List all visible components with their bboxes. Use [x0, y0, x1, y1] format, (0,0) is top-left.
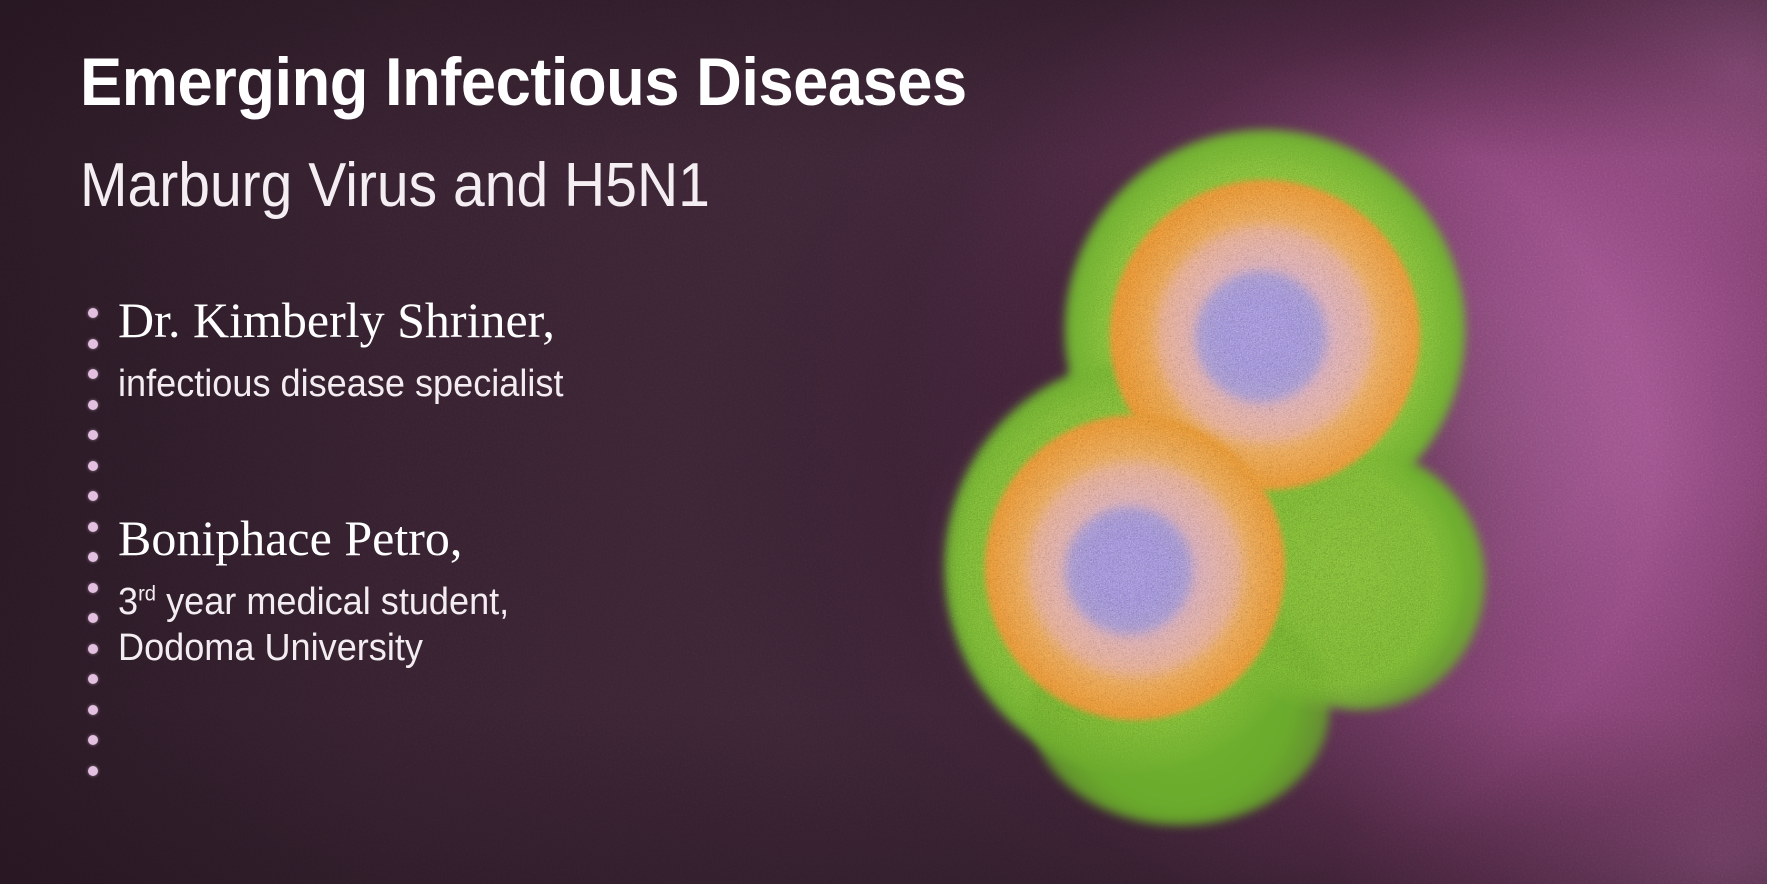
speaker-role-line-1: infectious disease specialist — [118, 363, 563, 405]
rail-dot — [88, 339, 98, 349]
speaker-role-ordinal: 3 — [118, 581, 138, 623]
page-title: Emerging Infectious Diseases — [80, 48, 967, 116]
speaker-role-line-1: year medical student, — [156, 581, 509, 623]
virus-speckle-texture — [905, 95, 1505, 835]
page-subtitle: Marburg Virus and H5N1 — [80, 155, 710, 217]
rail-dot — [88, 400, 98, 410]
rail-dot — [88, 613, 98, 623]
rail-dot — [88, 369, 98, 379]
speaker-block-1: Dr. Kimberly Shriner, infectious disease… — [118, 294, 587, 407]
speaker-block-2: Boniphace Petro, 3rd year medical studen… — [118, 512, 530, 671]
rail-dot — [88, 491, 98, 501]
rail-dot — [88, 674, 98, 684]
rail-dot — [88, 705, 98, 715]
rail-dot — [88, 644, 98, 654]
speaker-role: infectious disease specialist — [118, 361, 563, 407]
rail-dot — [88, 430, 98, 440]
speaker-name: Boniphace Petro, — [118, 512, 530, 565]
slide-text-column: Emerging Infectious Diseases Marburg Vir… — [0, 0, 940, 884]
rail-dot — [88, 735, 98, 745]
dotted-divider-rail — [88, 308, 99, 778]
rail-dot — [88, 461, 98, 471]
rail-dot — [88, 522, 98, 532]
presentation-title-slide: Emerging Infectious Diseases Marburg Vir… — [0, 0, 1767, 884]
rail-dot — [88, 583, 98, 593]
speaker-name: Dr. Kimberly Shriner, — [118, 294, 587, 347]
rail-dot — [88, 308, 98, 318]
rail-dot — [88, 552, 98, 562]
rail-dot — [88, 766, 98, 776]
speaker-role-ordinal-suffix: rd — [138, 581, 156, 605]
virus-micrograph-image — [905, 95, 1505, 835]
speaker-role-line-2: Dodoma University — [118, 627, 423, 669]
speaker-role: 3rd year medical student, Dodoma Univers… — [118, 579, 509, 672]
